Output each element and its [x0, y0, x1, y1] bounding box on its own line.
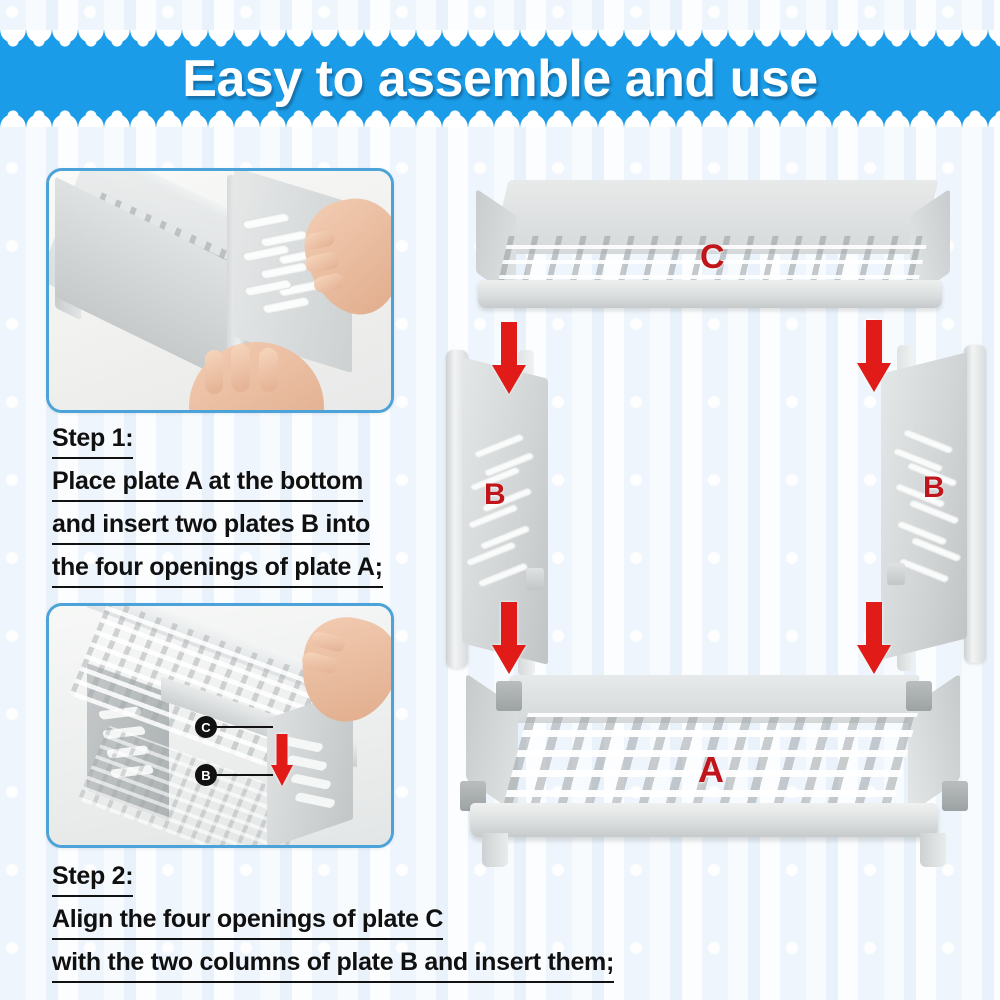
- step2-heading: Step 2:: [52, 858, 133, 897]
- step1-line-1: Place plate A at the bottom: [52, 463, 363, 502]
- step2-line-1: Align the four openings of plate C: [52, 901, 443, 940]
- finger: [303, 229, 336, 251]
- finger: [310, 630, 347, 653]
- arrow-down-icon: [271, 734, 293, 786]
- callout-badge-b: B: [195, 764, 217, 786]
- step1-heading: Step 1:: [52, 420, 133, 459]
- vent-slot: [898, 557, 950, 583]
- step1-photo: [46, 168, 394, 413]
- vent-slot: [473, 433, 525, 459]
- plate-b-right-clip: [887, 563, 905, 585]
- vent-slot: [902, 428, 954, 454]
- plate-b-right-face: [881, 352, 967, 659]
- plate-a-front-rail: [470, 803, 938, 837]
- plate-b-left-clip: [526, 568, 544, 590]
- callout-b: B: [195, 764, 273, 786]
- step2-line-2: with the two columns of plate B and inse…: [52, 944, 614, 983]
- callout-c: C: [195, 716, 273, 738]
- banner-dots-top: [0, 32, 1000, 50]
- plate-c: C: [450, 180, 970, 315]
- vent-slot: [261, 296, 311, 315]
- finger: [300, 651, 339, 675]
- finger: [259, 348, 278, 392]
- plate-a-leg: [920, 833, 946, 867]
- plate-b-right: B: [875, 345, 990, 665]
- finger: [313, 272, 346, 294]
- finger: [304, 251, 341, 275]
- plate-a-leg: [482, 833, 508, 867]
- arrow-b-left-icon: [492, 602, 526, 674]
- part-label-c: C: [700, 238, 725, 277]
- exploded-assembly-illustration: C B: [420, 160, 1000, 920]
- finger: [205, 350, 223, 394]
- step1-caption: Step 1: Place plate A at the bottom and …: [52, 420, 472, 592]
- step2-photo-scene: C B: [49, 606, 391, 845]
- plate-a-socket: [906, 681, 932, 711]
- page-title: Easy to assemble and use: [0, 49, 1000, 109]
- banner-scallop-bottom: [0, 110, 1000, 127]
- step1-line-3: the four openings of plate A;: [52, 549, 383, 588]
- plate-b-right-post: [964, 345, 986, 663]
- part-label-b-left: B: [484, 478, 506, 512]
- header-banner: Easy to assemble and use: [0, 30, 1000, 127]
- arrow-c-right-icon: [857, 320, 891, 392]
- plate-a: A: [430, 665, 990, 880]
- plate-c-front-rail: [478, 280, 942, 308]
- vent-slot: [294, 792, 336, 808]
- part-label-a: A: [698, 749, 724, 791]
- plate-a-socket: [496, 681, 522, 711]
- plate-a-socket: [942, 781, 968, 811]
- callout-badge-c: C: [195, 716, 217, 738]
- callout-leader-line: [217, 774, 273, 776]
- arrow-b-right-icon: [857, 602, 891, 674]
- step1-line-2: and insert two plates B into: [52, 506, 370, 545]
- vent-slot: [477, 562, 529, 588]
- finger: [231, 344, 250, 392]
- callout-leader-line: [217, 726, 273, 728]
- step1-photo-scene: [49, 171, 391, 410]
- part-label-b-right: B: [923, 471, 945, 505]
- arrow-c-left-icon: [492, 322, 526, 394]
- step2-photo: C B: [46, 603, 394, 848]
- vent-slot: [290, 773, 332, 789]
- vent-slot: [241, 212, 291, 231]
